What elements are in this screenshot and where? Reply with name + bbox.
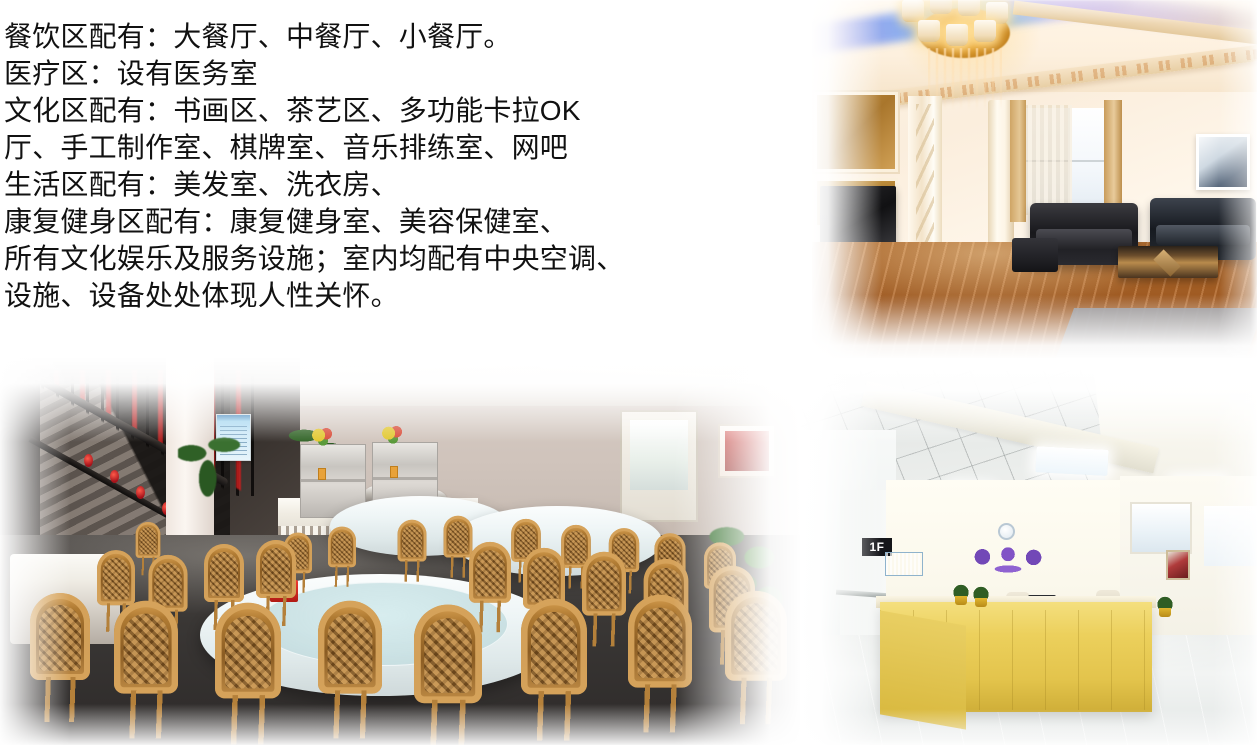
window	[1130, 502, 1192, 554]
rattan-chair	[414, 605, 482, 745]
living-room-scene	[812, 0, 1257, 358]
palm-plant	[178, 428, 244, 512]
text-line: 所有文化娱乐及服务设施；室内均配有中央空调、	[4, 240, 794, 277]
sheer-curtain	[1020, 105, 1072, 215]
rattan-chair	[30, 593, 90, 719]
counter-left-wing	[880, 610, 966, 729]
rattan-chair	[521, 599, 587, 738]
rattan-chair	[328, 527, 356, 586]
rattan-chair	[725, 591, 787, 721]
gold-wall-panel	[814, 92, 898, 172]
red-lantern	[84, 454, 93, 467]
wall-clock	[998, 523, 1015, 540]
page-root: 餐饮区配有：大餐厅、中餐厅、小餐厅。 医疗区：设有医务室 文化区配有：书画区、茶…	[0, 0, 1257, 745]
rattan-chair	[318, 601, 382, 735]
facility-description-text: 餐饮区配有：大餐厅、中餐厅、小餐厅。 医疗区：设有医务室 文化区配有：书画区、茶…	[4, 18, 794, 314]
rattan-chair	[215, 603, 281, 742]
chandelier-lampshade	[902, 0, 924, 22]
coffee-table	[1118, 246, 1218, 278]
rattan-chair	[582, 552, 626, 644]
area-rug	[1050, 308, 1257, 358]
text-line: 康复健身区配有：康复健身室、美容保健室、	[4, 203, 794, 240]
red-lantern	[110, 470, 119, 483]
chandelier-lampshade	[974, 20, 996, 42]
flower-arrangement	[312, 428, 334, 446]
text-line: 文化区配有：书画区、茶艺区、多功能卡拉OK	[4, 92, 794, 129]
flower-arrangement	[382, 426, 404, 444]
rattan-chair	[398, 520, 427, 580]
plant-pot	[955, 596, 967, 605]
text-line: 生活区配有：美发室、洗衣房、	[4, 166, 794, 203]
chandelier-crystal-drops	[928, 48, 1002, 110]
living-room-photo	[812, 0, 1257, 358]
ottoman	[1012, 238, 1058, 272]
chandelier-lampshade	[930, 0, 952, 14]
chandelier-lampshade	[946, 24, 968, 46]
text-line: 医疗区：设有医务室	[4, 55, 794, 92]
wall-art-frame	[1196, 134, 1250, 190]
chandelier-lampshade	[958, 0, 980, 16]
purple-floral-decal	[968, 544, 1048, 576]
curtain-right	[1104, 100, 1122, 220]
door-glass	[630, 420, 688, 490]
flat-screen-tv	[820, 186, 896, 248]
blue-call-panel	[885, 552, 923, 576]
shelf-label	[318, 468, 326, 480]
gold-chandelier	[888, 0, 1038, 114]
framed-art	[1166, 550, 1190, 580]
text-line: 厅、手工制作室、棋牌室、音乐排练室、网吧	[4, 129, 794, 166]
rattan-chair	[114, 601, 178, 735]
window-right	[1204, 506, 1257, 566]
reception-scene: 1F	[800, 370, 1257, 745]
chandelier-lampshade	[918, 20, 940, 42]
fire-extinguisher-cabinet	[718, 424, 776, 478]
shelf-label	[390, 466, 398, 478]
dining-hall-photo	[0, 358, 800, 745]
text-line: 餐饮区配有：大餐厅、中餐厅、小餐厅。	[4, 18, 794, 55]
plant-pot	[1159, 608, 1171, 617]
text-line: 设施、设备处处体现人性关怀。	[4, 277, 794, 314]
plant-pot	[975, 598, 987, 607]
rattan-chair	[628, 595, 692, 729]
curtain-left	[1010, 100, 1026, 222]
dining-hall-scene	[0, 358, 800, 745]
ceiling-panel-light	[1035, 446, 1108, 476]
reception-desk-photo: 1F	[800, 370, 1257, 745]
red-lantern	[136, 486, 145, 499]
